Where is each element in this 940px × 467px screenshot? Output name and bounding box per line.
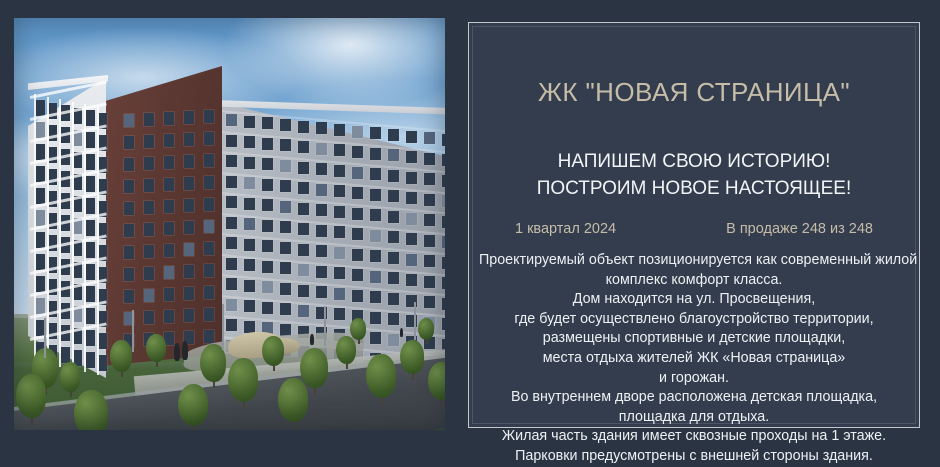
facade-window xyxy=(280,262,291,274)
facade-window xyxy=(164,222,174,235)
facade-window xyxy=(262,220,273,232)
facade-window xyxy=(204,242,214,255)
facade-window xyxy=(144,245,154,258)
facade-window xyxy=(316,163,327,175)
facade-window xyxy=(226,319,237,331)
facade-window xyxy=(262,138,273,150)
delivery-quarter: 1 квартал 2024 xyxy=(515,221,616,237)
facade-window xyxy=(406,254,417,266)
facade-window xyxy=(86,264,95,280)
facade-window xyxy=(352,146,363,158)
facade-window xyxy=(164,134,174,147)
facade-window xyxy=(442,298,445,310)
facade-window xyxy=(388,129,399,141)
street-lamp xyxy=(44,318,46,358)
facade-window xyxy=(298,162,309,174)
facade-window xyxy=(334,165,345,177)
description-line: комплекс комфорт класса. xyxy=(479,271,909,291)
facade-window xyxy=(36,100,45,116)
facade-window xyxy=(144,201,154,214)
facade-window xyxy=(370,230,381,242)
tree xyxy=(262,336,284,366)
facade-window xyxy=(280,160,291,172)
facade-window xyxy=(388,272,399,284)
facade-window xyxy=(352,249,363,261)
facade-window xyxy=(442,257,445,269)
facade-window xyxy=(316,245,327,257)
facade-window xyxy=(388,211,399,223)
facade-window xyxy=(164,266,174,279)
facade-window xyxy=(316,225,327,237)
description-line: Дом находится на ул. Просвещения, xyxy=(479,290,909,310)
facade-window xyxy=(86,330,95,346)
facade-window xyxy=(262,240,273,252)
facade-window xyxy=(204,154,214,167)
facade-window xyxy=(184,155,194,168)
facade-window xyxy=(442,195,445,207)
tree xyxy=(300,348,328,388)
tree xyxy=(178,384,208,426)
facade-window xyxy=(406,131,417,143)
facade-window xyxy=(334,206,345,218)
facade-window xyxy=(334,124,345,136)
facade-window xyxy=(124,114,134,127)
facade-window xyxy=(184,287,194,300)
facade-window xyxy=(262,117,273,129)
slogan-line-2: ПОСТРОИМ НОВОЕ НАСТОЯЩЕЕ! xyxy=(469,175,919,202)
facade-window xyxy=(99,355,108,371)
facade-window xyxy=(164,288,174,301)
facade-window xyxy=(244,116,255,128)
facade-window xyxy=(184,199,194,212)
facade-window xyxy=(334,267,345,279)
facade-window xyxy=(352,228,363,240)
facade-window xyxy=(298,203,309,215)
facade-window xyxy=(204,110,214,123)
facade-window xyxy=(86,352,95,368)
facade-window xyxy=(262,179,273,191)
facade-window xyxy=(144,157,154,170)
facade-window xyxy=(184,309,194,322)
facade-window xyxy=(164,112,174,125)
facade-window xyxy=(86,308,95,324)
tree xyxy=(60,362,80,392)
pedestrian-figure xyxy=(310,334,314,345)
facade-window xyxy=(298,244,309,256)
facade-window xyxy=(352,126,363,138)
facade-window xyxy=(298,182,309,194)
facade-window xyxy=(316,266,327,278)
facade-window xyxy=(316,122,327,134)
facade-window xyxy=(86,286,95,302)
facade-window xyxy=(334,288,345,300)
facade-window xyxy=(298,285,309,297)
facade-window xyxy=(99,333,108,349)
facade-window xyxy=(370,209,381,221)
tree xyxy=(366,354,396,398)
tree xyxy=(350,318,366,340)
facade-window xyxy=(442,154,445,166)
description-line: Жилая часть здания имеет сквозные проход… xyxy=(479,427,909,447)
facade-window xyxy=(424,173,435,185)
facade-window xyxy=(280,283,291,295)
facade-window xyxy=(370,127,381,139)
facade-window xyxy=(388,149,399,161)
facade-window xyxy=(370,189,381,201)
pedestrian-figure xyxy=(174,343,180,361)
facade-window xyxy=(204,132,214,145)
facade-window xyxy=(226,299,237,311)
facade-window xyxy=(144,311,154,324)
facade-window xyxy=(424,194,435,206)
facade-window xyxy=(316,204,327,216)
facade-window xyxy=(184,265,194,278)
street-lamp xyxy=(324,306,326,346)
facade-window xyxy=(184,133,194,146)
facade-window xyxy=(36,210,45,226)
facade-window xyxy=(280,119,291,131)
promo-card: ЖК "НОВАЯ СТРАНИЦА" НАПИШЕМ СВОЮ ИСТОРИЮ… xyxy=(0,0,940,450)
tree xyxy=(110,340,132,372)
facade-window xyxy=(424,296,435,308)
facade-window xyxy=(244,321,255,333)
facade-window xyxy=(334,144,345,156)
facade-window xyxy=(164,310,174,323)
facade-window xyxy=(244,157,255,169)
facade-window xyxy=(124,268,134,281)
facade-window xyxy=(184,243,194,256)
tree xyxy=(146,334,166,362)
street-lamp xyxy=(222,304,224,350)
facade-window xyxy=(280,139,291,151)
facade-window xyxy=(298,264,309,276)
facade-window xyxy=(226,196,237,208)
slogan-line-1: НАПИШЕМ СВОЮ ИСТОРИЮ! xyxy=(469,148,919,175)
facade-window xyxy=(86,198,95,214)
facade-window xyxy=(144,267,154,280)
facade-window xyxy=(298,223,309,235)
facade-window xyxy=(184,111,194,124)
facade-window xyxy=(370,148,381,160)
facade-window xyxy=(226,176,237,188)
facade-window xyxy=(184,177,194,190)
facade-window xyxy=(280,201,291,213)
project-description: Проектируемый объект позиционируется как… xyxy=(479,251,909,467)
facade-window xyxy=(424,214,435,226)
facade-window xyxy=(124,202,134,215)
facade-window xyxy=(262,281,273,293)
facade-window xyxy=(352,187,363,199)
facade-window xyxy=(226,278,237,290)
facade-window xyxy=(86,154,95,170)
info-panel: ЖК "НОВАЯ СТРАНИЦА" НАПИШЕМ СВОЮ ИСТОРИЮ… xyxy=(468,22,920,428)
facade-window xyxy=(244,300,255,312)
slogan-block: НАПИШЕМ СВОЮ ИСТОРИЮ! ПОСТРОИМ НОВОЕ НАС… xyxy=(469,148,919,202)
facade-window xyxy=(352,208,363,220)
facade-window xyxy=(298,121,309,133)
street-lamp xyxy=(132,310,134,352)
facade-window xyxy=(226,114,237,126)
facade-window xyxy=(370,250,381,262)
units-availability: В продаже 248 из 248 xyxy=(726,221,873,237)
facade-window xyxy=(144,223,154,236)
facade-window xyxy=(316,184,327,196)
facade-window xyxy=(370,168,381,180)
facade-window xyxy=(388,293,399,305)
facade-window xyxy=(226,217,237,229)
facade-window xyxy=(36,122,45,138)
facade-window xyxy=(164,156,174,169)
facade-window xyxy=(244,239,255,251)
facade-window xyxy=(370,332,381,344)
tree xyxy=(278,378,308,422)
facade-window xyxy=(61,347,70,363)
facade-window xyxy=(262,261,273,273)
facade-window xyxy=(164,178,174,191)
description-line: места отдыха жителей ЖК «Новая страница» xyxy=(479,349,909,369)
facade-window xyxy=(226,237,237,249)
facade-window xyxy=(262,302,273,314)
facade-window xyxy=(124,158,134,171)
tree xyxy=(336,336,356,364)
pedestrian-figure xyxy=(182,341,188,360)
facade-window xyxy=(144,289,154,302)
facade-window xyxy=(204,286,214,299)
facade-window xyxy=(334,185,345,197)
facade-window xyxy=(334,308,345,320)
street-lamp xyxy=(414,302,416,340)
facade-window xyxy=(36,188,45,204)
facade-window xyxy=(316,286,327,298)
facade-window xyxy=(36,276,45,292)
facade-window xyxy=(298,305,309,317)
facade-window xyxy=(424,153,435,165)
facade-window xyxy=(244,198,255,210)
facade-window xyxy=(144,179,154,192)
facade-window xyxy=(124,180,134,193)
facade-window xyxy=(164,200,174,213)
facade-window xyxy=(124,290,134,303)
facade-window xyxy=(36,298,45,314)
facade-window xyxy=(406,213,417,225)
facade-window xyxy=(86,110,95,126)
facade-window xyxy=(86,220,95,236)
project-render-photo xyxy=(14,18,445,430)
facade-window xyxy=(442,277,445,289)
tree xyxy=(16,374,46,418)
facade-window xyxy=(164,244,174,257)
facade-window xyxy=(144,113,154,126)
tree xyxy=(228,358,258,402)
facade-mullion xyxy=(59,99,61,367)
facade-window xyxy=(244,259,255,271)
stats-row: 1 квартал 2024 В продаже 248 из 248 xyxy=(515,221,873,237)
facade-window xyxy=(442,216,445,228)
facade-window xyxy=(244,280,255,292)
facade-window xyxy=(244,218,255,230)
facade-window xyxy=(280,303,291,315)
facade-window xyxy=(334,226,345,238)
facade-window xyxy=(204,264,214,277)
facade-window xyxy=(424,235,435,247)
facade-window xyxy=(36,166,45,182)
facade-window xyxy=(442,134,445,146)
facade-window xyxy=(204,176,214,189)
facade-window xyxy=(244,177,255,189)
facade-window xyxy=(244,136,255,148)
facade-window xyxy=(204,198,214,211)
description-line: где будет осуществлено благоустройство т… xyxy=(479,310,909,330)
facade-window xyxy=(226,135,237,147)
facade-window xyxy=(442,236,445,248)
facade-window xyxy=(424,132,435,144)
facade-window xyxy=(352,167,363,179)
description-line: размещены спортивные и детские площадки, xyxy=(479,329,909,349)
description-line: площадка для отдыха. xyxy=(479,408,909,428)
complex-title: ЖК "НОВАЯ СТРАНИЦА" xyxy=(469,77,919,108)
facade-window xyxy=(280,242,291,254)
facade-window xyxy=(388,313,399,325)
facade-window xyxy=(226,155,237,167)
facade-window xyxy=(370,271,381,283)
facade-window xyxy=(124,246,134,259)
facade-window xyxy=(406,233,417,245)
facade-window xyxy=(406,274,417,286)
description-line: Проектируемый объект позиционируется как… xyxy=(479,251,909,271)
facade-window xyxy=(388,252,399,264)
description-line: Во внутреннем дворе расположена детская … xyxy=(479,388,909,408)
facade-window xyxy=(388,334,399,346)
facade-window xyxy=(388,231,399,243)
tree xyxy=(74,390,108,430)
facade-window xyxy=(86,176,95,192)
facade-window xyxy=(86,242,95,258)
facade-window xyxy=(370,291,381,303)
facade-window xyxy=(226,258,237,270)
facade-window xyxy=(262,158,273,170)
facade-window xyxy=(36,254,45,270)
tree xyxy=(418,318,434,340)
facade-window xyxy=(36,232,45,248)
facade-window xyxy=(388,170,399,182)
facade-window xyxy=(442,318,445,330)
facade-window xyxy=(86,132,95,148)
pedestrian-figure xyxy=(400,328,403,337)
tree xyxy=(400,340,424,374)
description-line: и горожан. xyxy=(479,369,909,389)
facade-window xyxy=(406,192,417,204)
facade-window xyxy=(124,136,134,149)
facade-window xyxy=(424,255,435,267)
facade-window xyxy=(316,143,327,155)
facade-window xyxy=(298,141,309,153)
facade-window xyxy=(280,221,291,233)
facade-window xyxy=(124,224,134,237)
facade-window xyxy=(442,175,445,187)
facade-window xyxy=(388,190,399,202)
facade-window xyxy=(370,312,381,324)
facade-window xyxy=(184,221,194,234)
facade-window xyxy=(280,180,291,192)
facade-window xyxy=(334,247,345,259)
facade-window xyxy=(406,151,417,163)
facade-window xyxy=(36,144,45,160)
facade-window xyxy=(352,290,363,302)
facade-window xyxy=(424,276,435,288)
facade-window xyxy=(204,330,214,343)
facade-window xyxy=(144,135,154,148)
facade-window xyxy=(352,269,363,281)
facade-window xyxy=(204,220,214,233)
facade-window xyxy=(262,199,273,211)
facade-window xyxy=(406,172,417,184)
facade-window xyxy=(204,308,214,321)
